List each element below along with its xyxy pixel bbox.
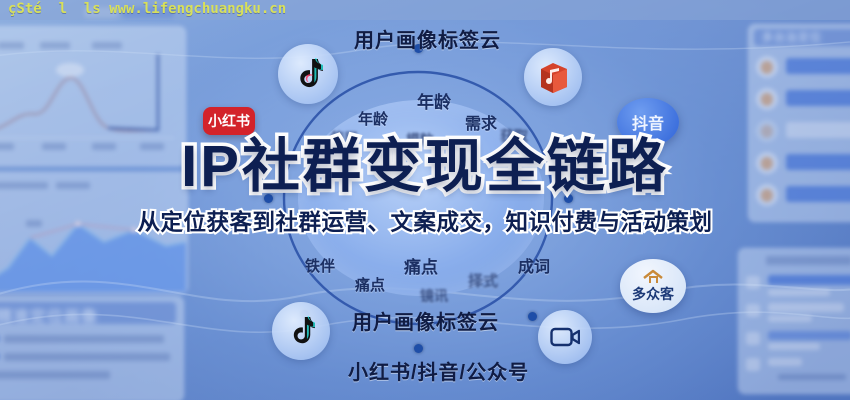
tiktok-icon xyxy=(293,58,323,91)
badge-xiaohongshu[interactable]: 小红书 xyxy=(203,107,255,135)
terminal-overlay-text: çSté l ls www.lifengchuangku.cn xyxy=(8,1,286,17)
poster-canvas: 精准定位画像 多台治定位 xyxy=(0,0,850,400)
node-camera[interactable] xyxy=(538,310,592,364)
label-platforms: 小红书/抖音/公众号 xyxy=(348,356,529,385)
ring-dot-br xyxy=(528,312,537,321)
node-tiktok-bottom[interactable] xyxy=(272,302,330,360)
tag-word: 成词 xyxy=(518,253,550,277)
music-cube-icon xyxy=(535,59,571,95)
tiktok-icon xyxy=(287,316,315,347)
tag-companion: 铁伴 xyxy=(305,255,335,276)
tag-painpoint-2: 痛点 xyxy=(355,274,385,295)
tag-year-2: 年龄 xyxy=(358,108,388,129)
label-tagcloud-bottom: 用户画像标签云 xyxy=(352,306,499,335)
tag-style: 择式 xyxy=(468,270,498,291)
label-tagcloud-top: 用户画像标签云 xyxy=(354,24,501,53)
ring-dot-bottom xyxy=(414,344,423,353)
sub-title: 从定位获客到社群运营、文案成交，知识付费与活动策划 xyxy=(0,205,850,237)
node-tiktok-top[interactable] xyxy=(278,44,338,104)
main-title: IP社群变现全链路 xyxy=(0,138,850,196)
tag-year-1: 年龄 xyxy=(417,88,451,113)
node-music-cube[interactable] xyxy=(524,48,582,106)
tag-painpoint-1: 痛点 xyxy=(404,253,438,278)
house-icon xyxy=(642,269,664,285)
headline-block: IP社群变现全链路 从定位获客到社群运营、文案成交，知识付费与活动策划 xyxy=(0,138,850,237)
tag-demand: 需求 xyxy=(465,110,497,134)
tag-news: 镜讯 xyxy=(420,286,448,306)
camera-icon xyxy=(550,324,580,350)
badge-duozhongke-label: 多众客 xyxy=(632,284,674,304)
badge-duozhongke[interactable]: 多众客 xyxy=(620,259,686,313)
